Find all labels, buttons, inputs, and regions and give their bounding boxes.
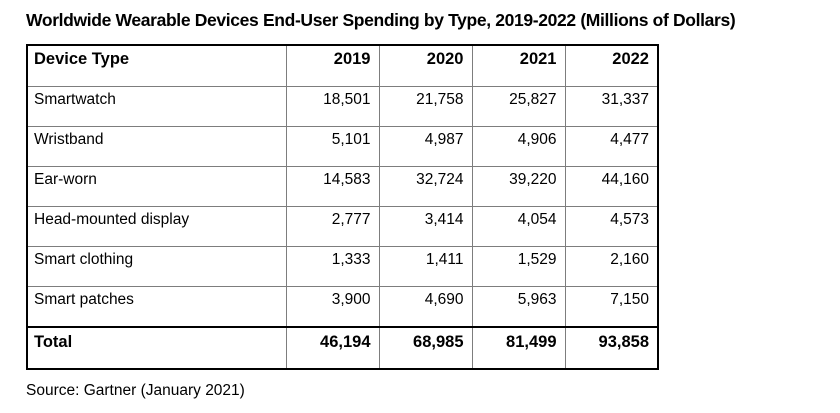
cell-value: 5,101 (287, 127, 379, 166)
cell-value: 18,501 (287, 87, 379, 126)
cell-2019: 2,777 (286, 207, 379, 247)
cell-2022: 4,477 (565, 127, 658, 167)
cell-total-2020: 68,985 (379, 327, 472, 369)
column-header-device-type: Device Type (27, 45, 286, 87)
cell-value: 1,333 (287, 247, 379, 286)
cell-2019: 14,583 (286, 167, 379, 207)
cell-value: 93,858 (566, 328, 658, 368)
report-table-page: Worldwide Wearable Devices End-User Spen… (0, 0, 840, 413)
column-header-2019-label: 2019 (287, 46, 379, 86)
cell-value: 44,160 (566, 167, 658, 206)
cell-2022: 7,150 (565, 287, 658, 328)
column-header-2022-label: 2022 (566, 46, 658, 86)
cell-value: 4,690 (380, 287, 472, 326)
table-row: Smartwatch 18,501 21,758 25,827 31,337 (27, 87, 658, 127)
cell-2020: 4,690 (379, 287, 472, 328)
cell-2019: 1,333 (286, 247, 379, 287)
table-body: Smartwatch 18,501 21,758 25,827 31,337 (27, 87, 658, 370)
cell-device-type: Smartwatch (27, 87, 286, 127)
column-header-2019: 2019 (286, 45, 379, 87)
cell-2022: 2,160 (565, 247, 658, 287)
cell-value: 4,573 (566, 207, 658, 246)
cell-value: Smart patches (28, 287, 286, 326)
cell-value: 3,900 (287, 287, 379, 326)
cell-2022: 44,160 (565, 167, 658, 207)
cell-value: Head-mounted display (28, 207, 286, 246)
cell-value: Total (28, 328, 286, 368)
cell-value: 1,529 (473, 247, 565, 286)
cell-value: 14,583 (287, 167, 379, 206)
cell-2019: 18,501 (286, 87, 379, 127)
cell-2019: 5,101 (286, 127, 379, 167)
cell-value: 81,499 (473, 328, 565, 368)
column-header-device-type-label: Device Type (28, 46, 286, 86)
cell-total-2021: 81,499 (472, 327, 565, 369)
cell-device-type: Ear-worn (27, 167, 286, 207)
cell-2022: 31,337 (565, 87, 658, 127)
column-header-2020-label: 2020 (380, 46, 472, 86)
cell-2022: 4,573 (565, 207, 658, 247)
cell-2020: 21,758 (379, 87, 472, 127)
cell-value: 31,337 (566, 87, 658, 126)
cell-value: 39,220 (473, 167, 565, 206)
cell-device-type: Wristband (27, 127, 286, 167)
cell-2021: 4,906 (472, 127, 565, 167)
cell-value: 4,906 (473, 127, 565, 166)
column-header-2022: 2022 (565, 45, 658, 87)
cell-value: 2,160 (566, 247, 658, 286)
cell-value: 32,724 (380, 167, 472, 206)
cell-total-2022: 93,858 (565, 327, 658, 369)
column-header-2021: 2021 (472, 45, 565, 87)
cell-value: 1,411 (380, 247, 472, 286)
cell-value: Wristband (28, 127, 286, 166)
column-header-2021-label: 2021 (473, 46, 565, 86)
table-row: Head-mounted display 2,777 3,414 4,054 4… (27, 207, 658, 247)
cell-device-type: Smart patches (27, 287, 286, 328)
cell-value: 68,985 (380, 328, 472, 368)
cell-value: 4,477 (566, 127, 658, 166)
cell-2021: 1,529 (472, 247, 565, 287)
cell-value: 21,758 (380, 87, 472, 126)
table-container: Device Type 2019 2020 2021 2022 (26, 44, 658, 370)
cell-value: 25,827 (473, 87, 565, 126)
cell-2020: 32,724 (379, 167, 472, 207)
cell-2020: 3,414 (379, 207, 472, 247)
cell-2019: 3,900 (286, 287, 379, 328)
cell-value: Smart clothing (28, 247, 286, 286)
page-title: Worldwide Wearable Devices End-User Spen… (26, 9, 826, 31)
wearable-spending-table: Device Type 2019 2020 2021 2022 (26, 44, 659, 370)
table-row: Ear-worn 14,583 32,724 39,220 44,160 (27, 167, 658, 207)
cell-value: 2,777 (287, 207, 379, 246)
table-row: Wristband 5,101 4,987 4,906 4,477 (27, 127, 658, 167)
column-header-2020: 2020 (379, 45, 472, 87)
cell-value: 5,963 (473, 287, 565, 326)
cell-2020: 1,411 (379, 247, 472, 287)
table-header-row: Device Type 2019 2020 2021 2022 (27, 45, 658, 87)
table-header: Device Type 2019 2020 2021 2022 (27, 45, 658, 87)
cell-2021: 25,827 (472, 87, 565, 127)
cell-2021: 39,220 (472, 167, 565, 207)
cell-2021: 5,963 (472, 287, 565, 328)
cell-value: 4,054 (473, 207, 565, 246)
cell-value: 46,194 (287, 328, 379, 368)
cell-value: Ear-worn (28, 167, 286, 206)
cell-value: Smartwatch (28, 87, 286, 126)
cell-total-2019: 46,194 (286, 327, 379, 369)
cell-device-type: Smart clothing (27, 247, 286, 287)
cell-2020: 4,987 (379, 127, 472, 167)
cell-value: 3,414 (380, 207, 472, 246)
source-note: Source: Gartner (January 2021) (26, 381, 245, 401)
cell-value: 7,150 (566, 287, 658, 326)
table-row: Smart clothing 1,333 1,411 1,529 2,160 (27, 247, 658, 287)
cell-total-label: Total (27, 327, 286, 369)
table-row: Smart patches 3,900 4,690 5,963 7,150 (27, 287, 658, 328)
cell-device-type: Head-mounted display (27, 207, 286, 247)
cell-value: 4,987 (380, 127, 472, 166)
cell-2021: 4,054 (472, 207, 565, 247)
table-total-row: Total 46,194 68,985 81,499 93,858 (27, 327, 658, 369)
